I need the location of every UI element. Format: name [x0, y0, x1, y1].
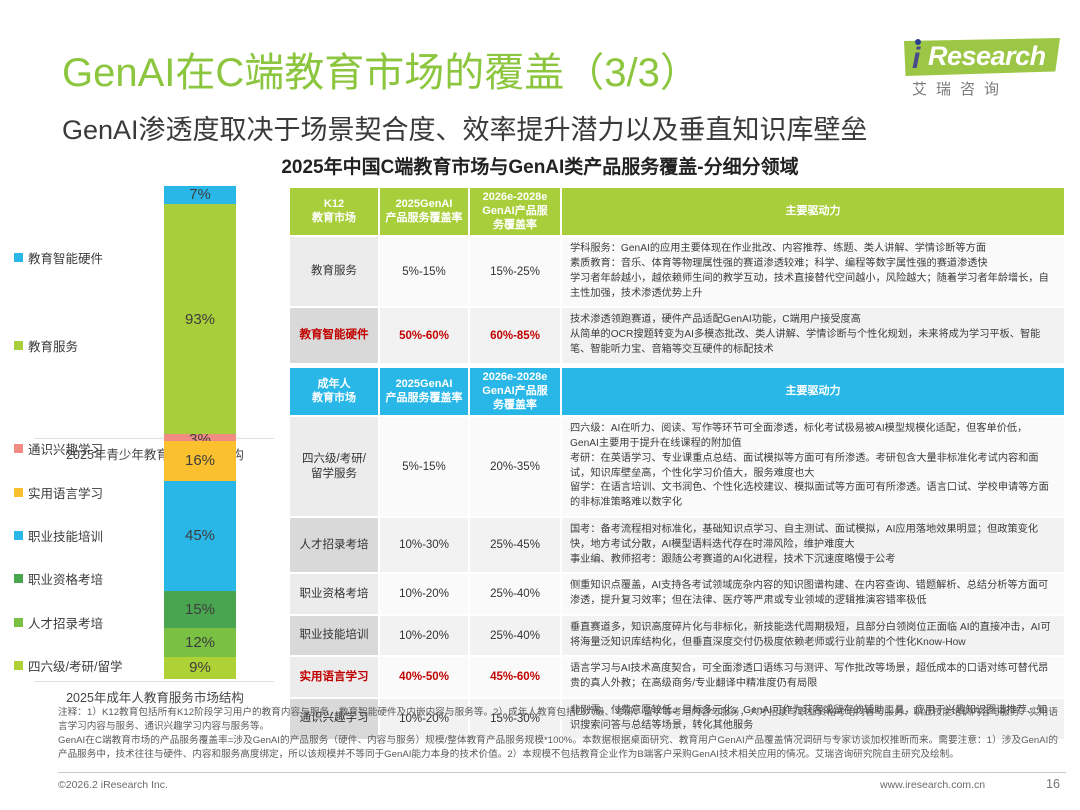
driver-line: 留学：在语言培训、文书润色、个性化选校建议、模拟面试等方面可有所渗透。语言口试、…	[570, 481, 1056, 511]
legend-swatch	[14, 341, 23, 350]
bar-segment: 12%	[164, 628, 236, 657]
legend-item: 人才招录考培	[14, 613, 103, 632]
logo-wordmark: Research	[928, 42, 1046, 72]
bar-segment-label: 7%	[189, 186, 211, 203]
table-k12: K12 教育市场 2025GenAI 产品服务覆盖率 2026e-2028e G…	[288, 186, 1066, 365]
legend-item: 教育智能硬件	[14, 248, 103, 267]
header-adult-market: 成年人 教育市场	[290, 368, 378, 415]
header-2028-rate: 2026e-2028e GenAI产品服 务覆盖率	[470, 188, 560, 235]
legend-label: 四六级/考研/留学	[28, 656, 122, 675]
bar-segment: 45%	[164, 481, 236, 591]
driver-line: 垂直赛道多，知识高度碎片化与非标化，新技能迭代周期极短，且部分白领岗位正面临 A…	[570, 621, 1056, 651]
table-row: 职业资格考培10%-20%25%-40%侧重知识点覆盖，AI支持各考试领域庞杂内…	[290, 574, 1064, 614]
header-main-drivers: 主要驱动力	[562, 188, 1064, 235]
legend-swatch	[14, 444, 23, 453]
header-2025-rate: 2025GenAI 产品服务覆盖率	[380, 188, 468, 235]
slide-root: GenAI在C端教育市场的覆盖（3/3） GenAI渗透度取决于场景契合度、效率…	[0, 0, 1080, 810]
driver-line: 国考：备考流程相对标准化，基础知识点学习、自主测试、面试模拟，AI应用落地效果明…	[570, 523, 1056, 553]
header-line-2: 教育市场	[292, 392, 376, 406]
bar-segment-label: 16%	[185, 452, 215, 469]
cell-category: 职业资格考培	[290, 574, 378, 614]
cell-rate-2025: 40%-50%	[380, 657, 468, 697]
cell-driver: 学科服务：GenAI的应用主要体现在作业批改、内容推荐、练题、类人讲解、学情诊断…	[562, 237, 1064, 306]
caption-rule	[34, 681, 274, 682]
cell-category: 实用语言学习	[290, 657, 378, 697]
header-line-2: 教育市场	[292, 212, 376, 226]
driver-line: 四六级：AI在听力、阅读、写作等环节可全面渗透，标化考试极易被AI模型规模化适配…	[570, 422, 1056, 452]
bar-segment: 7%	[164, 186, 236, 204]
footnote-paragraph: GenAI在C端教育市场的产品服务覆盖率=涉及GenAI的产品服务（硬件、内容与…	[58, 734, 1058, 762]
cell-rate-2028: 25%-45%	[470, 518, 560, 572]
table-row: 教育智能硬件50%-60%60%-85%技术渗透领跑赛道，硬件产品适配GenAI…	[290, 308, 1064, 362]
table-row: 实用语言学习40%-50%45%-60%语言学习与AI技术高度契合，可全面渗透口…	[290, 657, 1064, 697]
cell-rate-2028: 15%-25%	[470, 237, 560, 306]
driver-line: 侧重知识点覆盖，AI支持各考试领域庞杂内容的知识图谱构建、在内容查询、错题解析、…	[570, 579, 1056, 609]
legend-item: 四六级/考研/留学	[14, 656, 122, 675]
cell-driver: 侧重知识点覆盖，AI支持各考试领域庞杂内容的知识图谱构建、在内容查询、错题解析、…	[562, 574, 1064, 614]
table-k12-header: K12 教育市场 2025GenAI 产品服务覆盖率 2026e-2028e G…	[290, 188, 1064, 235]
table-k12-body: 教育服务5%-15%15%-25%学科服务：GenAI的应用主要体现在作业批改、…	[290, 237, 1064, 362]
table-row: 四六级/考研/留学服务5%-15%20%-35%四六级：AI在听力、阅读、写作等…	[290, 417, 1064, 516]
driver-line: 事业编、教师招考：跟随公考赛道的AI化进程，技术下沉速度略慢于公考	[570, 553, 1056, 568]
legend-label: 教育服务	[28, 336, 78, 355]
cell-driver: 语言学习与AI技术高度契合，可全面渗透口语练习与测评、写作批改等场景，超低成本的…	[562, 657, 1064, 697]
footer-divider	[58, 772, 1066, 773]
legend-label: 实用语言学习	[28, 483, 103, 502]
legend-swatch	[14, 531, 23, 540]
bar-segment: 3%	[164, 434, 236, 441]
cell-rate-2025: 5%-15%	[380, 417, 468, 516]
header-line-1: 2025GenAI	[382, 198, 466, 212]
bar-segment-label: 93%	[185, 311, 215, 328]
bar-segment: 15%	[164, 591, 236, 628]
legend-item: 职业技能培训	[14, 526, 103, 545]
cell-rate-2028: 25%-40%	[470, 574, 560, 614]
legend-label: 人才招录考培	[28, 613, 103, 632]
footnote-paragraph: 注释：1）K12教育包括所有K12阶段学习用户的教育内容与服务，教育智能硬件及内…	[58, 706, 1058, 734]
legend-item: 职业资格考培	[14, 569, 103, 588]
legend-swatch	[14, 253, 23, 262]
header-line-1: K12	[292, 198, 376, 212]
cell-rate-2028: 20%-35%	[470, 417, 560, 516]
driver-line: 语言学习与AI技术高度契合，可全面渗透口语练习与测评、写作批改等场景，超低成本的…	[570, 662, 1056, 692]
bar-segment: 93%	[164, 204, 236, 437]
driver-line: 从简单的OCR搜题转变为AI多模态批改、类人讲解、学情诊断与个性化规划，未来将成…	[570, 328, 1056, 358]
bar-segment: 9%	[164, 657, 236, 679]
cell-driver: 垂直赛道多，知识高度碎片化与非标化，新技能迭代周期极短，且部分白领岗位正面临 A…	[562, 616, 1064, 656]
cell-rate-2025: 5%-15%	[380, 237, 468, 306]
driver-line: 技术渗透领跑赛道，硬件产品适配GenAI功能，C端用户接受度高	[570, 313, 1056, 328]
page-title: GenAI在C端教育市场的覆盖（3/3）	[62, 40, 700, 98]
header-2028-rate: 2026e-2028e GenAI产品服 务覆盖率	[470, 368, 560, 415]
driver-line: 考研：在英语学习、专业课重点总结、面试模拟等方面可有所渗透。考研包含大量非标准化…	[570, 452, 1056, 482]
chart-adult-caption: 2025年成年人教育服务市场结构	[30, 687, 280, 706]
table-header-row: 成年人 教育市场 2025GenAI 产品服务覆盖率 2026e-2028e G…	[290, 368, 1064, 415]
stacked-bar-youth: 7%93%	[164, 186, 236, 436]
cell-rate-2025: 10%-20%	[380, 616, 468, 656]
cell-rate-2028: 60%-85%	[470, 308, 560, 362]
cell-category: 人才招录考培	[290, 518, 378, 572]
bar-segment-label: 12%	[185, 634, 215, 651]
header-line-3: 务覆盖率	[472, 219, 558, 233]
header-line-2: GenAI产品服	[472, 205, 558, 219]
table-row: 职业技能培训10%-20%25%-40%垂直赛道多，知识高度碎片化与非标化，新技…	[290, 616, 1064, 656]
cell-category: 教育智能硬件	[290, 308, 378, 362]
legend-swatch	[14, 574, 23, 583]
driver-line: 素质教育：音乐、体育等物理属性强的赛道渗透较难；科学、编程等数字属性强的赛道渗透…	[570, 257, 1056, 272]
footnotes: 注释：1）K12教育包括所有K12阶段学习用户的教育内容与服务，教育智能硬件及内…	[58, 706, 1058, 762]
cell-rate-2028: 25%-40%	[470, 616, 560, 656]
table-adult-header: 成年人 教育市场 2025GenAI 产品服务覆盖率 2026e-2028e G…	[290, 368, 1064, 415]
cell-category: 教育服务	[290, 237, 378, 306]
table-adult-body: 四六级/考研/留学服务5%-15%20%-35%四六级：AI在听力、阅读、写作等…	[290, 417, 1064, 738]
legend-swatch	[14, 618, 23, 627]
iresearch-logo: i Research 艾瑞咨询	[882, 36, 1062, 100]
cell-driver: 技术渗透领跑赛道，硬件产品适配GenAI功能，C端用户接受度高从简单的OCR搜题…	[562, 308, 1064, 362]
copyright-text: ©2026.2 iResearch Inc.	[58, 779, 168, 791]
logo-i-letter: i	[912, 44, 920, 74]
legend-item: 实用语言学习	[14, 483, 103, 502]
cell-category: 四六级/考研/留学服务	[290, 417, 378, 516]
cell-category-line: 留学服务	[290, 467, 378, 482]
header-line-1: 2026e-2028e	[472, 191, 558, 205]
cell-driver: 国考：备考流程相对标准化，基础知识点学习、自主测试、面试模拟，AI应用落地效果明…	[562, 518, 1064, 572]
stacked-bar-adult: 3%16%45%15%12%9%	[164, 434, 236, 679]
cell-rate-2025: 10%-30%	[380, 518, 468, 572]
cell-category: 职业技能培训	[290, 616, 378, 656]
header-main-drivers: 主要驱动力	[562, 368, 1064, 415]
table-adult: 成年人 教育市场 2025GenAI 产品服务覆盖率 2026e-2028e G…	[288, 366, 1066, 741]
header-line-2: GenAI产品服	[472, 385, 558, 399]
logo-chinese-name: 艾瑞咨询	[912, 78, 1008, 99]
header-line-1: 2026e-2028e	[472, 371, 558, 385]
header-k12-market: K12 教育市场	[290, 188, 378, 235]
table-row: 教育服务5%-15%15%-25%学科服务：GenAI的应用主要体现在作业批改、…	[290, 237, 1064, 306]
cell-rate-2025: 50%-60%	[380, 308, 468, 362]
driver-line: 学习者年龄越小，越依赖师生间的教学互动，技术直接替代空间越小，风险越大；随着学习…	[570, 272, 1056, 302]
table-row: 人才招录考培10%-30%25%-45%国考：备考流程相对标准化，基础知识点学习…	[290, 518, 1064, 572]
legend-item: 通识兴趣学习	[14, 439, 103, 458]
cell-rate-2028: 45%-60%	[470, 657, 560, 697]
cell-driver: 四六级：AI在听力、阅读、写作等环节可全面渗透，标化考试极易被AI模型规模化适配…	[562, 417, 1064, 516]
page-subtitle: GenAI渗透度取决于场景契合度、效率提升潜力以及垂直知识库壁垒	[62, 108, 868, 147]
legend-swatch	[14, 488, 23, 497]
legend-label: 职业技能培训	[28, 526, 103, 545]
header-line-2: 产品服务覆盖率	[382, 212, 466, 226]
cell-rate-2025: 10%-20%	[380, 574, 468, 614]
legend-swatch	[14, 661, 23, 670]
legend-label: 教育智能硬件	[28, 248, 103, 267]
header-line-2: 产品服务覆盖率	[382, 392, 466, 406]
header-line-1: 成年人	[292, 378, 376, 392]
legend-label: 职业资格考培	[28, 569, 103, 588]
bar-segment-label: 45%	[185, 527, 215, 544]
bar-segment-label: 15%	[185, 601, 215, 618]
charts-panel: 7%93% 2025年青少年教育服务市场结构 教育智能硬件教育服务 3%16%4…	[14, 186, 286, 701]
driver-line: 学科服务：GenAI的应用主要体现在作业批改、内容推荐、练题、类人讲解、学情诊断…	[570, 242, 1056, 257]
header-line-3: 务覆盖率	[472, 399, 558, 413]
header-2025-rate: 2025GenAI 产品服务覆盖率	[380, 368, 468, 415]
page-number: 16	[1046, 777, 1060, 791]
header-line-1: 2025GenAI	[382, 378, 466, 392]
legend-label: 通识兴趣学习	[28, 439, 103, 458]
cell-category-line: 四六级/考研/	[290, 452, 378, 467]
bar-segment: 16%	[164, 441, 236, 480]
bar-segment-label: 9%	[189, 659, 211, 676]
website-url[interactable]: www.iresearch.com.cn	[880, 779, 985, 791]
table-header-row: K12 教育市场 2025GenAI 产品服务覆盖率 2026e-2028e G…	[290, 188, 1064, 235]
chart-title: 2025年中国C端教育市场与GenAI类产品服务覆盖-分细分领域	[0, 152, 1080, 179]
legend-item: 教育服务	[14, 336, 78, 355]
